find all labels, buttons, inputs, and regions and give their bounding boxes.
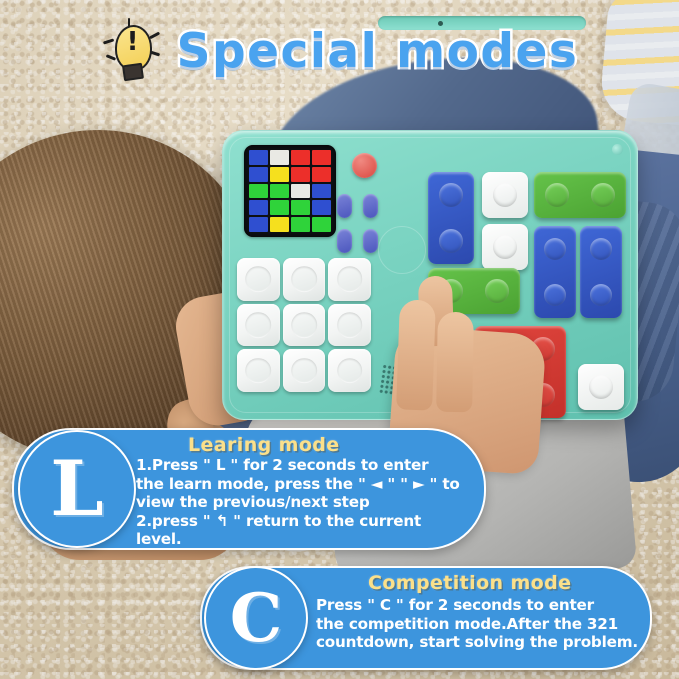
- screen-cell-r5-c4: [312, 217, 331, 232]
- keypad-button-r3-c1[interactable]: [237, 349, 280, 392]
- block-stud: [545, 183, 570, 208]
- screen-cell-r3-c2: [270, 184, 289, 199]
- body-line-1: Press " C " for 2 seconds to enter: [316, 596, 646, 615]
- direction-button-right[interactable]: [363, 194, 378, 218]
- body-line-1: 1.Press " L " for 2 seconds to enter: [136, 456, 488, 475]
- learning-mode-title: Learing mode: [188, 434, 340, 456]
- white-block-1x1-c[interactable]: [578, 364, 624, 410]
- learning-mode-badge: L: [18, 430, 136, 548]
- direction-button-down[interactable]: [337, 229, 352, 253]
- keypad-button-r2-c1[interactable]: [237, 304, 280, 347]
- screen-cell-r2-c1: [249, 167, 268, 182]
- child-finger-ring: [436, 312, 474, 413]
- page-title-row: ! Special modes: [0, 14, 679, 88]
- child-finger-index: [396, 299, 436, 410]
- keypad-button-r1-c3[interactable]: [328, 258, 371, 301]
- blue-block-1x2-vertical-mid-a[interactable]: [534, 226, 576, 318]
- block-stud: [493, 235, 518, 260]
- device-logo-emboss: [378, 226, 426, 274]
- screen-cell-r3-c4: [312, 184, 331, 199]
- keypad-button-r3-c2[interactable]: [283, 349, 326, 392]
- screen-cell-r4-c4: [312, 200, 331, 215]
- device-corner-dot-icon: [612, 144, 623, 155]
- screen-color-grid: [249, 150, 331, 232]
- screen-cell-r2-c2: [270, 167, 289, 182]
- block-stud: [591, 183, 616, 208]
- screen-cell-r3-c3: [291, 184, 310, 199]
- block-stud: [439, 229, 464, 254]
- body-line-2: the competition mode.After the 321: [316, 615, 646, 634]
- competition-badge-letter: C: [230, 585, 283, 651]
- competition-mode-body: Press " C " for 2 seconds to enterthe co…: [316, 596, 646, 652]
- screen-cell-r4-c2: [270, 200, 289, 215]
- screen-cell-r1-c1: [249, 150, 268, 165]
- keypad-button-r2-c3[interactable]: [328, 304, 371, 347]
- device-screen: [244, 145, 336, 237]
- body-line-5: level.: [136, 530, 488, 549]
- block-stud: [544, 238, 567, 261]
- direction-button-left[interactable]: [337, 194, 352, 218]
- direction-button-return[interactable]: [363, 229, 378, 253]
- screen-cell-r2-c4: [312, 167, 331, 182]
- body-line-3: view the previous/next step: [136, 493, 488, 512]
- infographic-stage: ! Special modes L Learing mode 1.Press "…: [0, 0, 679, 679]
- block-stud: [589, 375, 614, 400]
- screen-cell-r1-c4: [312, 150, 331, 165]
- page-title: Special modes: [177, 24, 579, 79]
- screen-cell-r5-c1: [249, 217, 268, 232]
- block-stud: [493, 183, 518, 208]
- keypad-button-r1-c1[interactable]: [237, 258, 280, 301]
- screen-cell-r4-c1: [249, 200, 268, 215]
- blue-block-1x2-vertical[interactable]: [428, 172, 474, 264]
- competition-mode-title: Competition mode: [368, 572, 571, 594]
- screen-cell-r5-c3: [291, 217, 310, 232]
- keypad-button-r1-c2[interactable]: [283, 258, 326, 301]
- power-button[interactable]: [352, 153, 377, 178]
- keypad-button-r2-c2[interactable]: [283, 304, 326, 347]
- block-stud: [590, 238, 613, 261]
- screen-cell-r3-c1: [249, 184, 268, 199]
- white-keypad-3x3[interactable]: [237, 258, 371, 392]
- green-block-2x1-horizontal-top[interactable]: [534, 172, 626, 218]
- white-block-1x1-a[interactable]: [482, 172, 528, 218]
- learning-badge-letter: L: [50, 451, 103, 527]
- screen-cell-r4-c3: [291, 200, 310, 215]
- screen-cell-r5-c2: [270, 217, 289, 232]
- blue-block-1x2-vertical-mid-b[interactable]: [580, 226, 622, 318]
- lightbulb-idea-icon: !: [101, 20, 163, 82]
- screen-cell-r1-c2: [270, 150, 289, 165]
- white-block-1x1-b[interactable]: [482, 224, 528, 270]
- body-line-3: countdown, start solving the problem.: [316, 633, 646, 652]
- learning-mode-body: 1.Press " L " for 2 seconds to enterthe …: [136, 456, 488, 549]
- body-line-4: 2.press " ↰ " return to the current: [136, 512, 488, 531]
- block-stud: [485, 279, 510, 304]
- screen-cell-r2-c3: [291, 167, 310, 182]
- block-stud: [544, 284, 567, 307]
- screen-cell-r1-c3: [291, 150, 310, 165]
- body-line-2: the learn mode, press the " ◄ " " ► " to: [136, 475, 488, 494]
- block-stud: [439, 183, 464, 208]
- block-stud: [590, 284, 613, 307]
- keypad-button-r3-c3[interactable]: [328, 349, 371, 392]
- competition-mode-badge: C: [204, 566, 308, 670]
